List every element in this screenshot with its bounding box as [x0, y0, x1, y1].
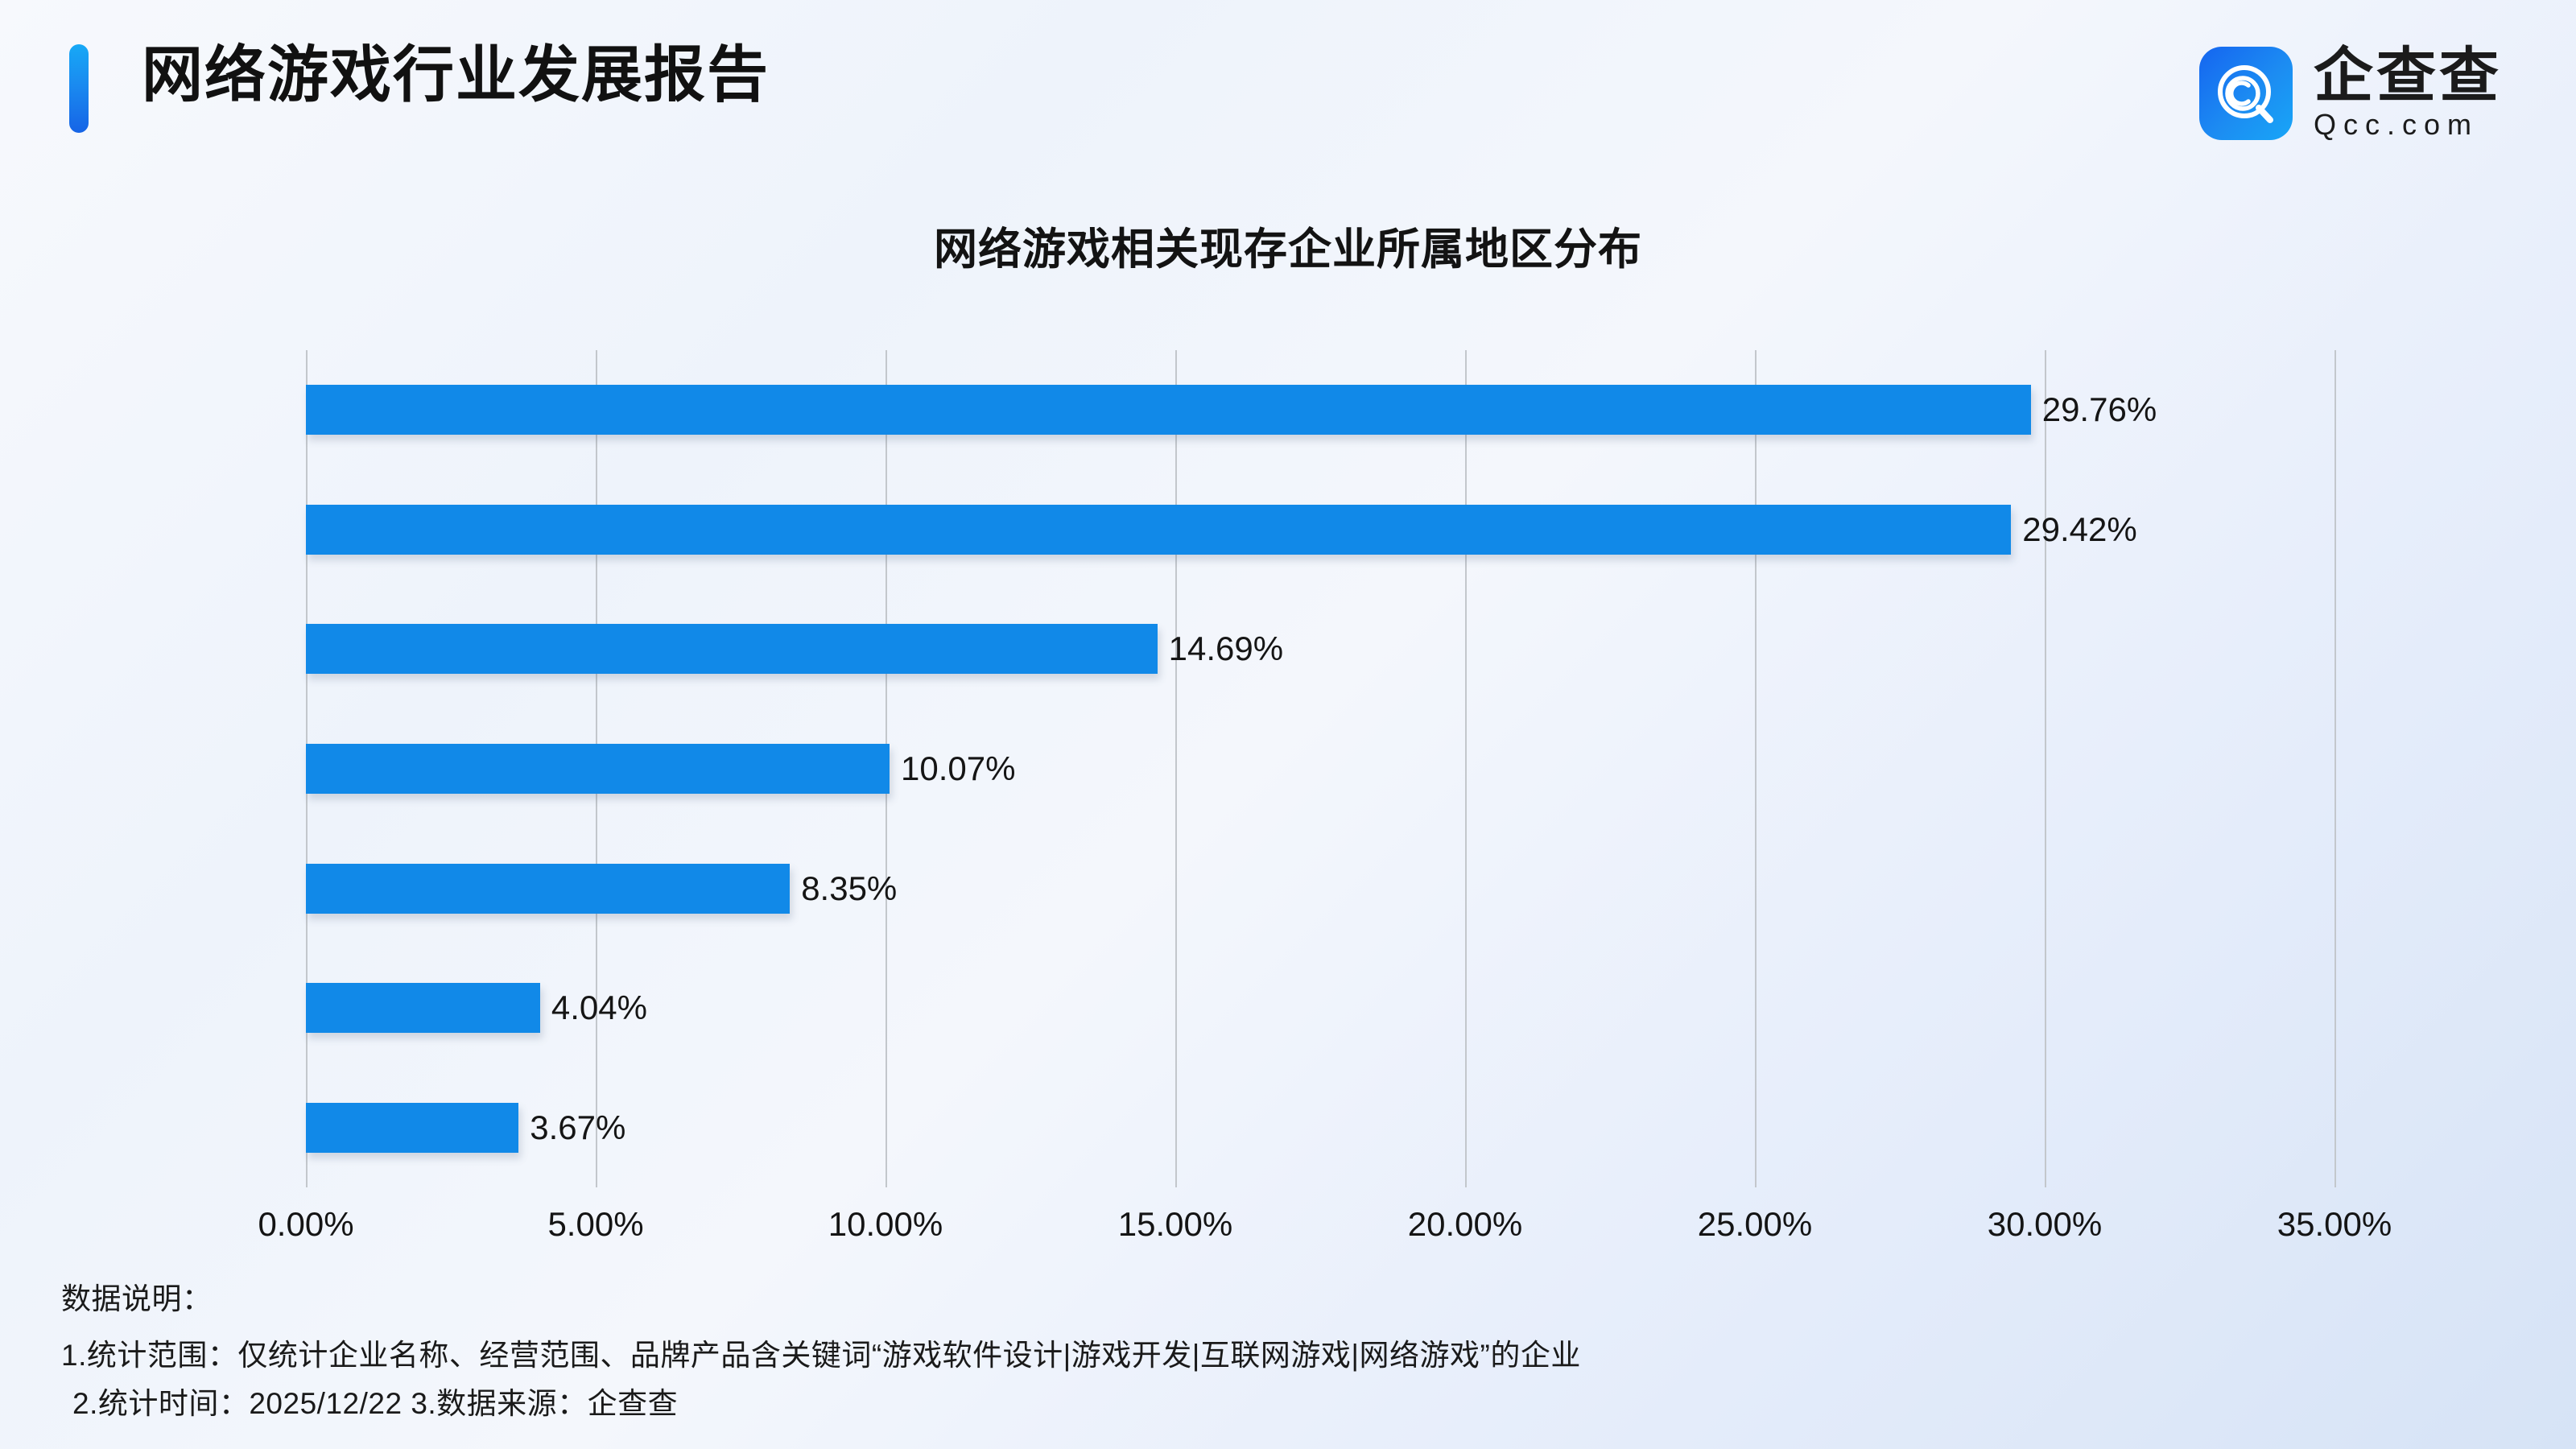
gridline: [2045, 350, 2046, 1187]
bar[interactable]: [306, 505, 2011, 555]
x-axis-tick-label: 35.00%: [2277, 1205, 2392, 1244]
x-axis-tick-label: 5.00%: [547, 1205, 643, 1244]
bar[interactable]: [306, 1103, 518, 1153]
bar-value-label: 8.35%: [801, 869, 897, 908]
brand-logo-text: 企查查 Qcc.com: [2314, 45, 2502, 141]
bar-value-label: 3.67%: [530, 1108, 625, 1147]
bar-value-label: 29.42%: [2022, 510, 2136, 549]
gridline: [1755, 350, 1757, 1187]
bar-value-label: 14.69%: [1169, 630, 1283, 668]
bar[interactable]: [306, 624, 1158, 674]
page-title: 网络游戏行业发展报告: [142, 37, 770, 114]
x-axis-tick-label: 0.00%: [258, 1205, 353, 1244]
gridline: [2334, 350, 2336, 1187]
brand-logo: 企查查 Qcc.com: [2199, 45, 2502, 141]
bar[interactable]: [306, 385, 2031, 435]
x-axis-tick-label: 10.00%: [828, 1205, 943, 1244]
gridline: [1465, 350, 1467, 1187]
brand-name-cn: 企查查: [2314, 45, 2502, 105]
footer-note-line-2: 2.统计时间：2025/12/22 3.数据来源：企查查: [61, 1380, 2524, 1428]
brand-name-en: Qcc.com: [2314, 109, 2479, 141]
bar-value-label: 10.07%: [901, 749, 1015, 788]
footer-notes: 数据说明： 1.统计范围：仅统计企业名称、经营范围、品牌产品含关键词“游戏软件设…: [61, 1275, 2524, 1428]
qcc-q-target-icon: [2199, 47, 2293, 140]
bar[interactable]: [306, 864, 790, 914]
x-axis-tick-label: 20.00%: [1408, 1205, 1522, 1244]
plot-area: 0.00%5.00%10.00%15.00%20.00%25.00%30.00%…: [306, 350, 2334, 1187]
chart-title: 网络游戏相关现存企业所属地区分布: [0, 213, 2576, 277]
x-axis-tick-label: 15.00%: [1118, 1205, 1232, 1244]
x-axis-tick-label: 30.00%: [1988, 1205, 2102, 1244]
page-header: 网络游戏行业发展报告 企查查 Qcc.com: [0, 0, 2576, 193]
footer-note-heading: 数据说明：: [61, 1275, 2524, 1323]
bar-value-label: 4.04%: [551, 989, 647, 1027]
x-axis-tick-label: 25.00%: [1698, 1205, 1812, 1244]
bar[interactable]: [306, 744, 890, 794]
bar-value-label: 29.76%: [2042, 390, 2157, 429]
bar[interactable]: [306, 983, 540, 1033]
title-accent-bar: [69, 44, 89, 133]
footer-note-line-1: 1.统计范围：仅统计企业名称、经营范围、品牌产品含关键词“游戏软件设计|游戏开发…: [61, 1331, 2524, 1380]
gridline: [1175, 350, 1177, 1187]
bar-chart: 0.00%5.00%10.00%15.00%20.00%25.00%30.00%…: [0, 338, 2576, 1224]
